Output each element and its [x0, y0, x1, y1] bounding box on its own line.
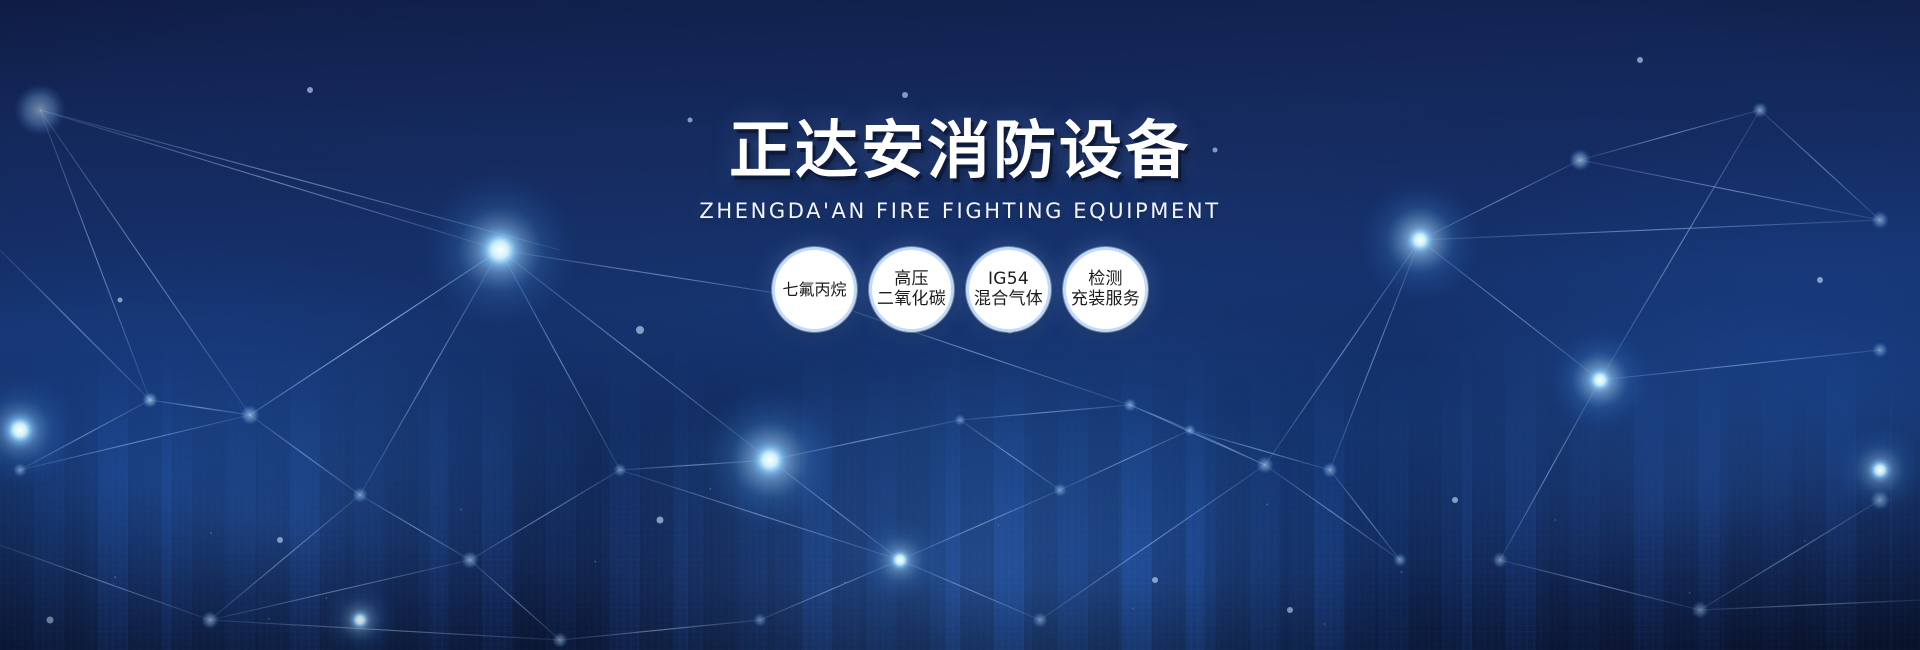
city-lights — [0, 390, 1920, 650]
badge-line-2: 充装服务 — [1071, 289, 1140, 310]
product-badge-heptafluoropropane[interactable]: 七氟丙烷 — [772, 247, 857, 332]
badge-line-2: 二氧化碳 — [877, 289, 946, 310]
badge-line-1: 检测 — [1088, 269, 1123, 290]
city-far-windows — [0, 320, 1920, 650]
city-building-blocks — [0, 350, 1920, 650]
badge-line-1: 七氟丙烷 — [782, 280, 846, 300]
product-badge-inspection-filling-service[interactable]: 检测 充装服务 — [1063, 247, 1148, 332]
product-badge-high-pressure-co2[interactable]: 高压 二氧化碳 — [869, 247, 954, 332]
badge-line-1: 高压 — [894, 269, 929, 290]
badge-line-1: IG54 — [988, 269, 1029, 290]
hero-banner: 正达安消防设备 ZHENGDA'AN FIRE FIGHTING EQUIPME… — [0, 0, 1920, 650]
product-badge-ig54-mixed-gas[interactable]: IG54 混合气体 — [966, 247, 1051, 332]
product-badge-list: 七氟丙烷 高压 二氧化碳 IG54 混合气体 检测 充装服务 — [0, 247, 1920, 332]
hero-content: 正达安消防设备 ZHENGDA'AN FIRE FIGHTING EQUIPME… — [0, 118, 1920, 332]
page-title: 正达安消防设备 — [0, 118, 1920, 185]
badge-line-2: 混合气体 — [974, 289, 1043, 310]
page-subtitle: ZHENGDA'AN FIRE FIGHTING EQUIPMENT — [0, 199, 1920, 223]
